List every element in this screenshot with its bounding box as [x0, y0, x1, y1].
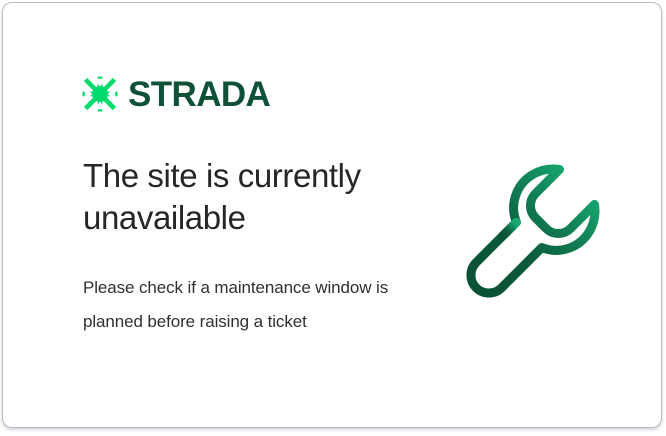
brand-lockup: STRADA: [81, 73, 270, 115]
strada-asterisk-icon: [81, 75, 119, 113]
wrench-illustration: [458, 155, 618, 315]
page-title: The site is currently unavailable: [83, 155, 433, 239]
error-card: STRADA The site is currently unavailable…: [2, 2, 662, 428]
brand-wordmark: STRADA: [128, 77, 270, 112]
error-page: STRADA The site is currently unavailable…: [0, 0, 666, 436]
page-description: Please check if a maintenance window is …: [83, 271, 413, 339]
wrench-icon: [458, 155, 618, 315]
